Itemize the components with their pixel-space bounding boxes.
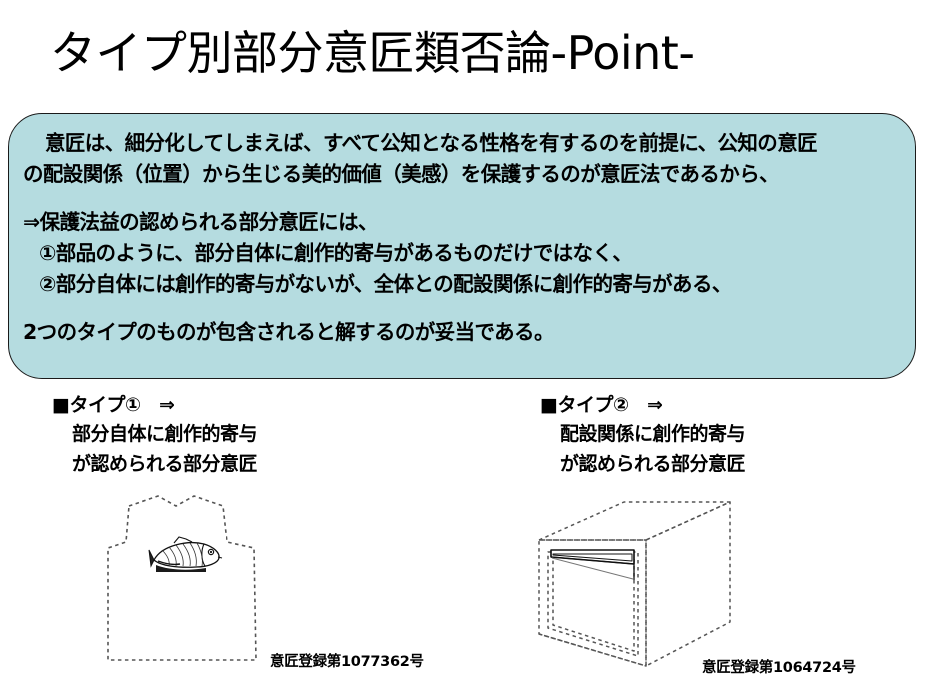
oven-figure: [534, 494, 794, 674]
example-description-line-1-type-1: 部分自体に創作的寄与: [52, 419, 482, 449]
fish-print-patch: [148, 536, 226, 574]
example-block-type-2: ■タイプ② ⇒ 配設関係に創作的寄与 が認められる部分意匠: [530, 392, 929, 479]
example-description-line-2-type-2: が認められる部分意匠: [530, 449, 929, 479]
microwave-oven-outline-icon: [534, 494, 794, 674]
statement-box: 意匠は、細分化してしまえば、すべて公知となる性格を有するのを前提に、公知の意匠 …: [8, 113, 916, 379]
statement-line-6: 2つのタイプのものが包含されると解するのが妥当である。: [23, 317, 899, 348]
vest-outline-icon: [96, 492, 300, 668]
statement-line-3: ⇒保護法益の認められる部分意匠には、: [23, 207, 899, 238]
vest-figure: [96, 492, 300, 668]
statement-line-5: ②部分自体には創作的寄与がないが、全体との配設関係に創作的寄与がある、: [23, 269, 899, 300]
fish-icon: [148, 536, 226, 574]
example-heading-type-2: ■タイプ② ⇒: [530, 392, 929, 419]
example-description-line-2-type-1: が認められる部分意匠: [52, 449, 482, 479]
example-description-line-1-type-2: 配設関係に創作的寄与: [530, 419, 929, 449]
example-heading-type-1: ■タイプ① ⇒: [52, 392, 482, 419]
statement-line-2: の配設関係（位置）から生じる美的価値（美感）を保護するのが意匠法であるから、: [23, 159, 899, 190]
statement-spacer-2: [23, 300, 899, 317]
statement-spacer-1: [23, 190, 899, 207]
statement-line-4: ①部品のように、部分自体に創作的寄与があるものだけではなく、: [23, 238, 899, 269]
figure-caption-type-2: 意匠登録第1064724号: [702, 656, 856, 677]
figure-caption-type-1: 意匠登録第1077362号: [270, 650, 424, 671]
example-block-type-1: ■タイプ① ⇒ 部分自体に創作的寄与 が認められる部分意匠: [52, 392, 482, 479]
statement-line-1: 意匠は、細分化してしまえば、すべて公知となる性格を有するのを前提に、公知の意匠: [23, 128, 899, 159]
page-title: タイプ別部分意匠類否論-Point-: [50, 22, 890, 84]
